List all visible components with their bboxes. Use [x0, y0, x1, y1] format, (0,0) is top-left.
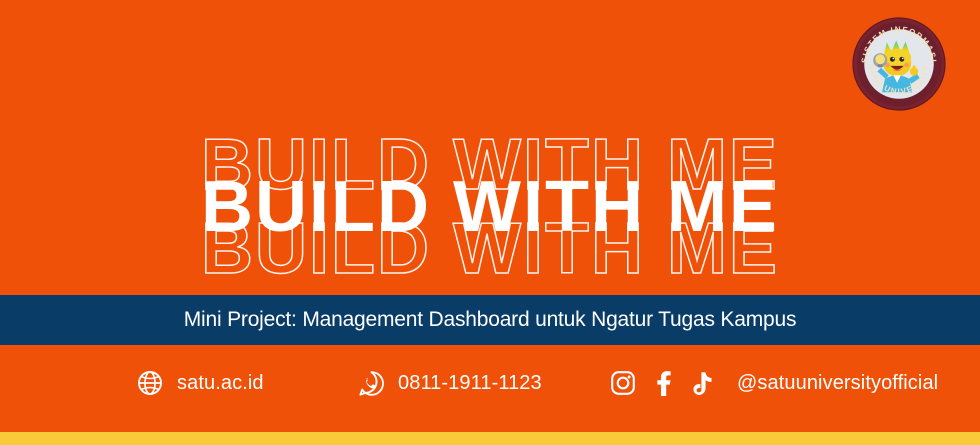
contact-social[interactable]: @satuuniversityofficial: [609, 369, 938, 397]
whatsapp-number: 0811-1911-1123: [398, 372, 542, 395]
hero-title-block: BUILD WITH ME BUILD WITH ME BUILD WITH M…: [0, 112, 980, 272]
instagram-icon[interactable]: [609, 369, 637, 397]
satu-university-logo: SISTEM INFORMASI SATU UNIVERSITY: [852, 17, 946, 111]
promo-poster: SISTEM INFORMASI SATU UNIVERSITY BUILD W…: [0, 0, 980, 445]
globe-icon: [136, 369, 164, 397]
contact-whatsapp[interactable]: 0811-1911-1123: [357, 369, 542, 397]
subtitle-band: Mini Project: Management Dashboard untuk…: [0, 295, 980, 345]
website-label: satu.ac.id: [177, 372, 264, 395]
tiktok-icon[interactable]: [689, 369, 717, 397]
facebook-icon[interactable]: [649, 369, 677, 397]
contact-website[interactable]: satu.ac.id: [136, 369, 264, 397]
whatsapp-icon: [357, 369, 385, 397]
social-handle: @satuuniversityofficial: [737, 372, 938, 395]
subtitle-text: Mini Project: Management Dashboard untuk…: [184, 308, 797, 332]
hero-title: BUILD WITH ME: [0, 170, 980, 244]
bottom-accent-strip: [0, 432, 980, 445]
contact-row: satu.ac.id 0811-1911-1123: [0, 362, 980, 404]
